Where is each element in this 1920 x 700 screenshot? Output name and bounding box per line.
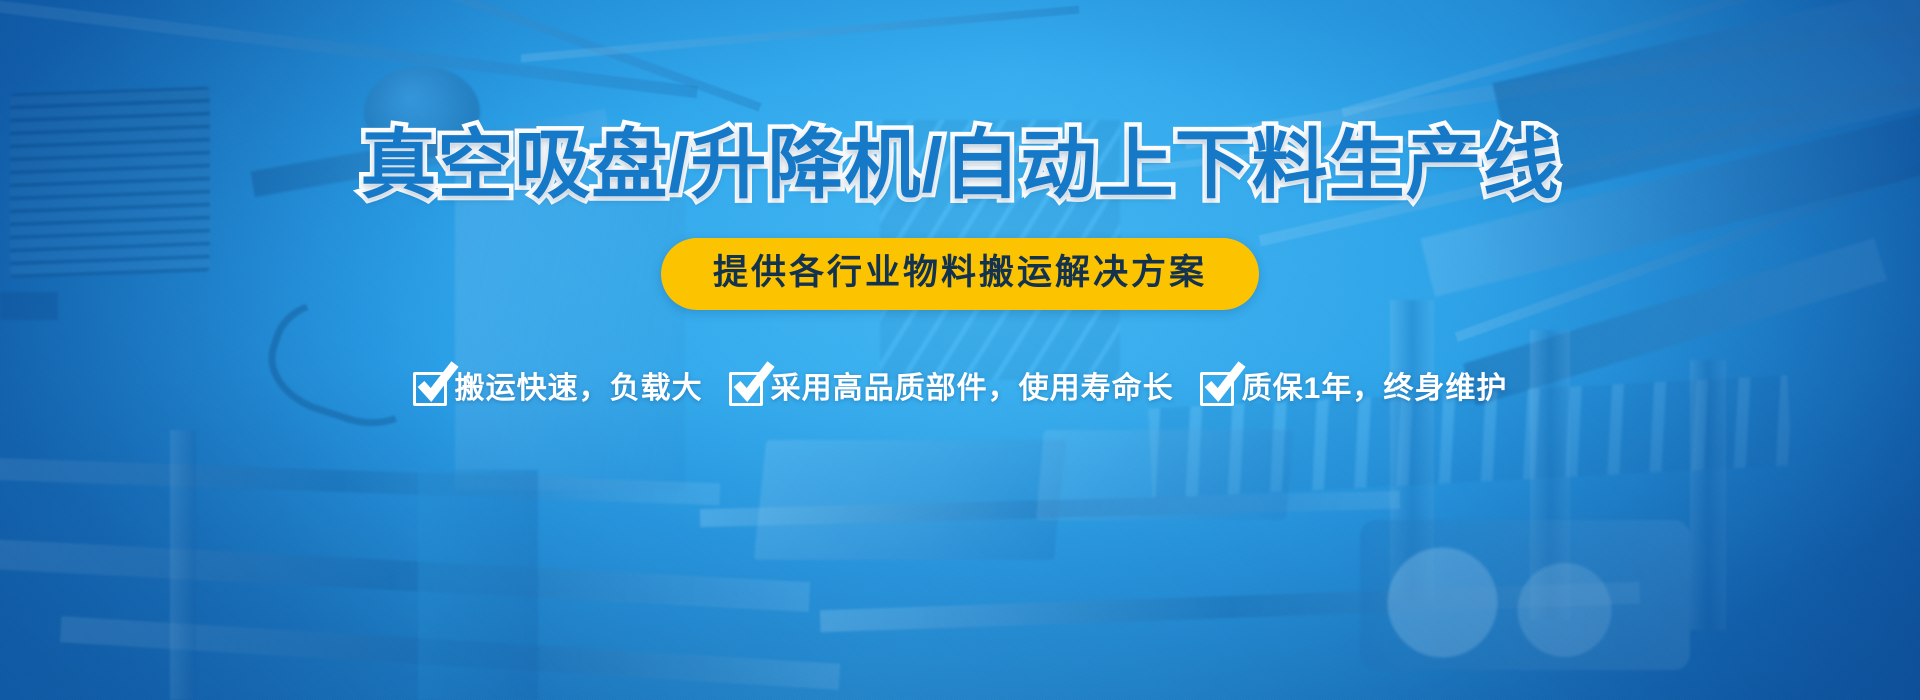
feature-item: 质保1年，终身维护 — [1200, 372, 1508, 406]
feature-label: 搬运快速，负载大 — [455, 374, 703, 404]
feature-item: 采用高品质部件，使用寿命长 — [729, 372, 1174, 406]
feature-label: 质保1年，终身维护 — [1242, 374, 1508, 404]
banner-subtitle-pill: 提供各行业物料搬运解决方案 — [661, 238, 1259, 310]
banner-headline: 真空吸盘/升降机/自动上下料生产线 — [360, 128, 1559, 204]
check-icon — [729, 372, 763, 406]
check-icon — [1200, 372, 1234, 406]
feature-item: 搬运快速，负载大 — [413, 372, 703, 406]
feature-list: 搬运快速，负载大 采用高品质部件，使用寿命长 质保1年，终身维护 — [413, 372, 1508, 406]
promo-banner: 真空吸盘/升降机/自动上下料生产线 提供各行业物料搬运解决方案 搬运快速，负载大… — [0, 0, 1920, 700]
banner-content: 真空吸盘/升降机/自动上下料生产线 提供各行业物料搬运解决方案 搬运快速，负载大… — [0, 0, 1920, 700]
feature-label: 采用高品质部件，使用寿命长 — [771, 374, 1174, 404]
check-icon — [413, 372, 447, 406]
